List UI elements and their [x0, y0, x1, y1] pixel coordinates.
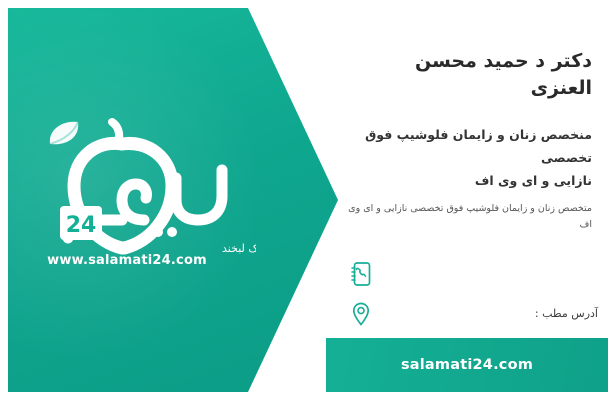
contact-list: آدرس مطب : — [348, 254, 598, 334]
doctor-name: دکتر د حمید محسن العنزی — [348, 48, 592, 101]
contact-row-phone — [348, 254, 598, 294]
doctor-specialty-line2: نازایی و ای وی اف — [348, 169, 592, 192]
svg-text:براحتی یک لبخند: براحتی یک لبخند — [222, 242, 256, 255]
location-pin-icon — [348, 299, 374, 329]
footer-bar: salamati24.com — [326, 338, 608, 392]
logo-artwork-icon: 24 براحتی یک لبخند — [26, 100, 256, 275]
svg-text:24: 24 — [66, 213, 97, 238]
phone-book-icon — [348, 259, 374, 289]
contact-address-label: آدرس مطب : — [382, 306, 598, 323]
salamati24-logo: 24 براحتی یک لبخند — [26, 100, 256, 275]
doctor-specialty-subtitle: متخصص زنان و زایمان فلوشیپ فوق تخصصی ناز… — [348, 201, 592, 233]
card-frame: 24 براحتی یک لبخند www.salamati24.com دک… — [8, 8, 608, 392]
logo-website-text: www.salamati24.com — [32, 253, 222, 268]
business-card: 24 براحتی یک لبخند www.salamati24.com دک… — [0, 0, 616, 400]
contact-row-address: آدرس مطب : — [348, 294, 598, 334]
doctor-specialty-line1: منخصص زنان و زایمان فلوشیپ فوق تخصصی — [348, 123, 592, 169]
footer-website: salamati24.com — [401, 357, 533, 373]
